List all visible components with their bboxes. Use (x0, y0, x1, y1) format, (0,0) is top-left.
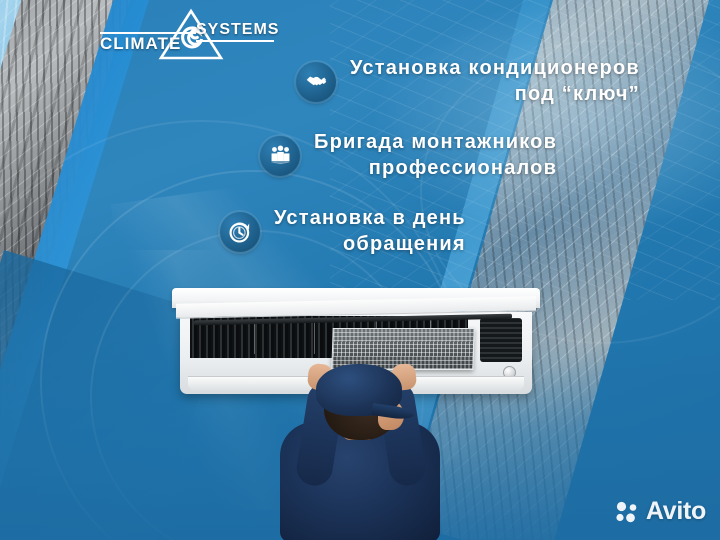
handshake-icon (296, 62, 336, 102)
avito-dots-icon (614, 501, 640, 523)
clock-arrow-icon (220, 212, 260, 252)
feature-row-professional-team: Бригада монтажников профессионалов (260, 130, 557, 181)
installation-photo (0, 270, 720, 540)
feature-line-1: Бригада монтажников (314, 131, 557, 153)
brand-logo: CLIMATE SYSTEMS (100, 6, 275, 64)
feature-line-2: под “ключ” (350, 82, 640, 108)
logo-text-climate: CLIMATE (100, 34, 181, 54)
ac-side-vent (480, 318, 522, 362)
avito-label: Avito (646, 497, 706, 526)
feature-row-turnkey-installation: Установка кондиционеров под “ключ” (296, 56, 640, 107)
promo-banner: CLIMATE SYSTEMS Установка кондиционеров … (0, 0, 720, 540)
feature-text-turnkey-installation: Установка кондиционеров под “ключ” (350, 56, 640, 107)
feature-text-same-day-service: Установка в день обращения (274, 206, 466, 257)
feature-line-1: Установка кондиционеров (350, 57, 640, 79)
feature-line-2: профессионалов (314, 156, 557, 182)
feature-line-2: обращения (274, 232, 466, 258)
logo-text-systems: SYSTEMS (196, 21, 279, 39)
feature-row-same-day-service: Установка в день обращения (220, 206, 466, 257)
feature-line-1: Установка в день (274, 207, 466, 229)
feature-text-professional-team: Бригада монтажников профессионалов (314, 130, 557, 181)
technician (246, 370, 472, 540)
avito-watermark: Avito (614, 497, 706, 526)
three-people-icon (260, 136, 300, 176)
